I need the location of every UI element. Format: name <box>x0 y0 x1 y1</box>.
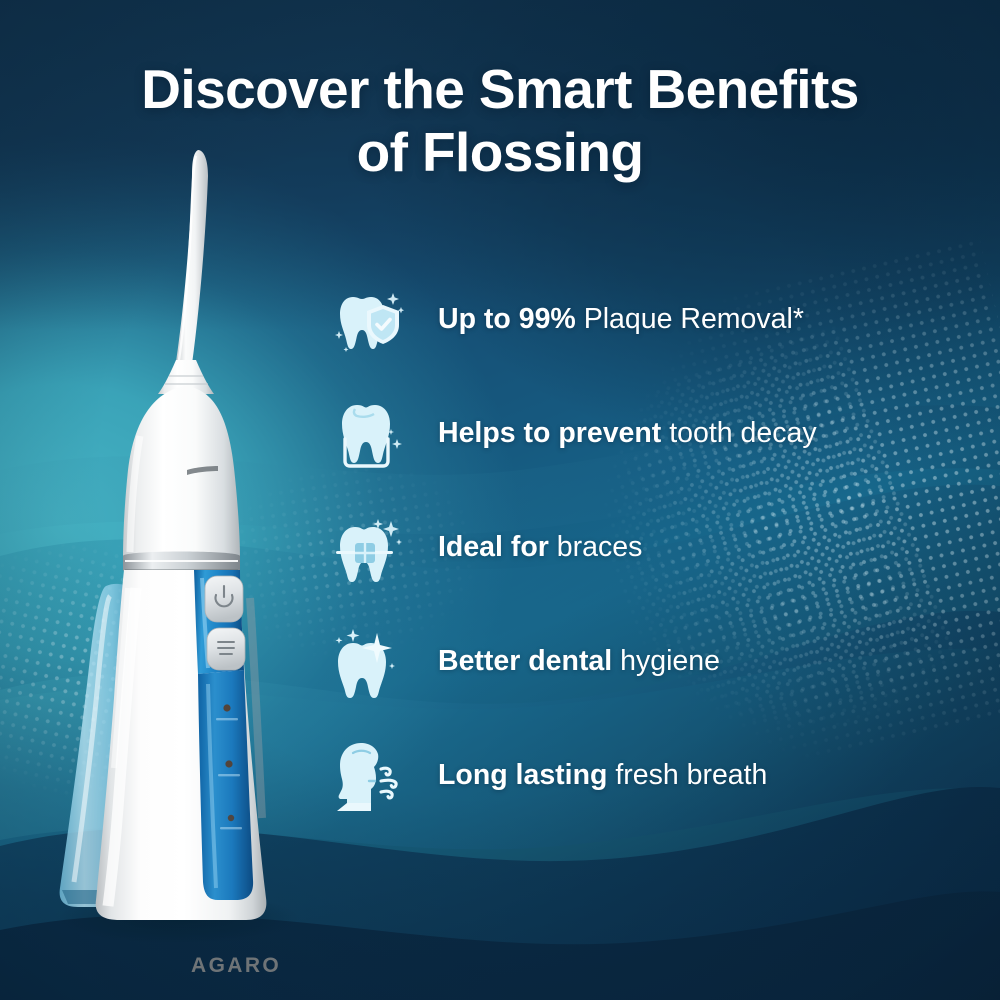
benefit-label-regular: tooth decay <box>661 417 816 449</box>
product-mode-indicator-panel <box>198 670 253 900</box>
benefit-item: Up to 99% Plaque Removal* <box>330 262 930 376</box>
benefit-label: Up to 99% Plaque Removal* <box>438 302 804 336</box>
benefit-label: Better dental hygiene <box>438 644 720 678</box>
benefit-label-regular: braces <box>549 531 642 563</box>
benefit-label-bold: Helps to prevent <box>438 417 661 449</box>
benefit-item: Helps to prevent tooth decay <box>330 376 930 490</box>
benefit-label-bold: Up to 99% <box>438 303 576 335</box>
benefit-label-regular: hygiene <box>612 645 720 677</box>
benefit-label-regular: Plaque Removal* <box>576 303 804 335</box>
product-power-button[interactable] <box>205 576 243 622</box>
benefit-label: Helps to prevent tooth decay <box>438 416 817 450</box>
tooth-braces-icon <box>330 508 408 586</box>
fresh-breath-face-icon <box>330 736 408 814</box>
product-brand-wordmark: AGARO <box>191 954 281 978</box>
sparkling-tooth-icon <box>330 622 408 700</box>
benefit-item: Long lasting fresh breath <box>330 718 930 832</box>
benefit-item: Ideal for braces <box>330 490 930 604</box>
tooth-protected-icon <box>330 394 408 472</box>
benefit-label: Ideal for braces <box>438 530 642 564</box>
product-mode-button[interactable] <box>207 628 245 670</box>
product-image-water-flosser: AGARO <box>28 118 328 948</box>
promo-banner: Discover the Smart Benefits of Flossing <box>0 0 1000 1000</box>
benefit-label-bold: Long lasting <box>438 759 607 791</box>
tooth-shield-check-icon <box>330 280 408 358</box>
benefit-item: Better dental hygiene <box>330 604 930 718</box>
benefit-label-bold: Ideal for <box>438 531 549 563</box>
benefit-label-regular: fresh breath <box>607 759 767 791</box>
page-title-line-1: Discover the Smart Benefits <box>141 58 858 120</box>
benefits-list: Up to 99% Plaque Removal* Helps to preve… <box>330 262 930 832</box>
benefit-label-bold: Better dental <box>438 645 612 677</box>
product-head-shell <box>123 386 240 558</box>
benefit-label: Long lasting fresh breath <box>438 758 767 792</box>
